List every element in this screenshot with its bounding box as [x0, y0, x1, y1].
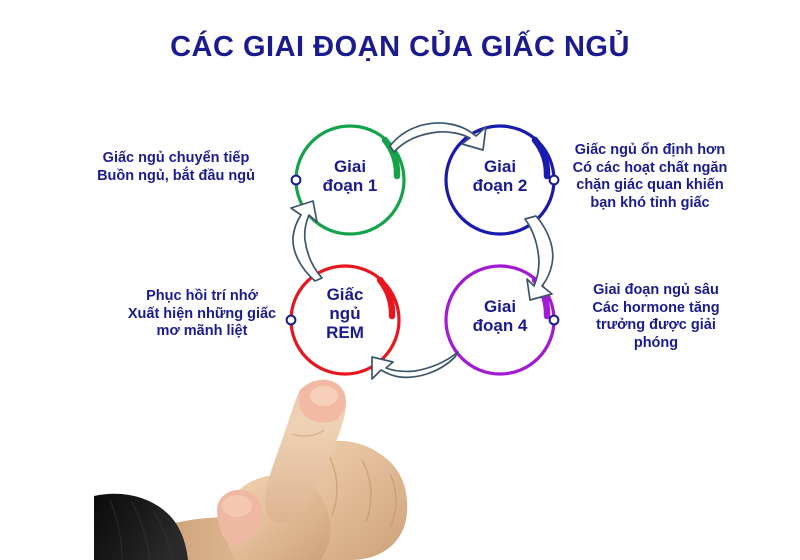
- arrow-stage2-to-stage4: [525, 216, 553, 300]
- description-stage2: Giấc ngủ ổn định hơn Có các hoạt chất ng…: [548, 142, 752, 212]
- description-rem: Phục hồi trí nhớ Xuất hiện những giấc mơ…: [100, 288, 304, 341]
- infographic-page: CÁC GIAI ĐOẠN CỦA GIẤC NGỦ: [0, 0, 800, 560]
- connector-dot-stage1: [292, 176, 301, 185]
- node-ring-rem[interactable]: [291, 266, 399, 374]
- sleep-cycle-diagram: [0, 0, 800, 560]
- description-stage1: Giấc ngủ chuyển tiếp Buồn ngủ, bắt đầu n…: [62, 150, 290, 185]
- arrow-stage1-to-stage2: [390, 123, 486, 152]
- description-stage4: Giai đoạn ngủ sâu Các hormone tăng trưởn…: [556, 282, 756, 352]
- arrow-rem-to-stage1: [291, 201, 322, 281]
